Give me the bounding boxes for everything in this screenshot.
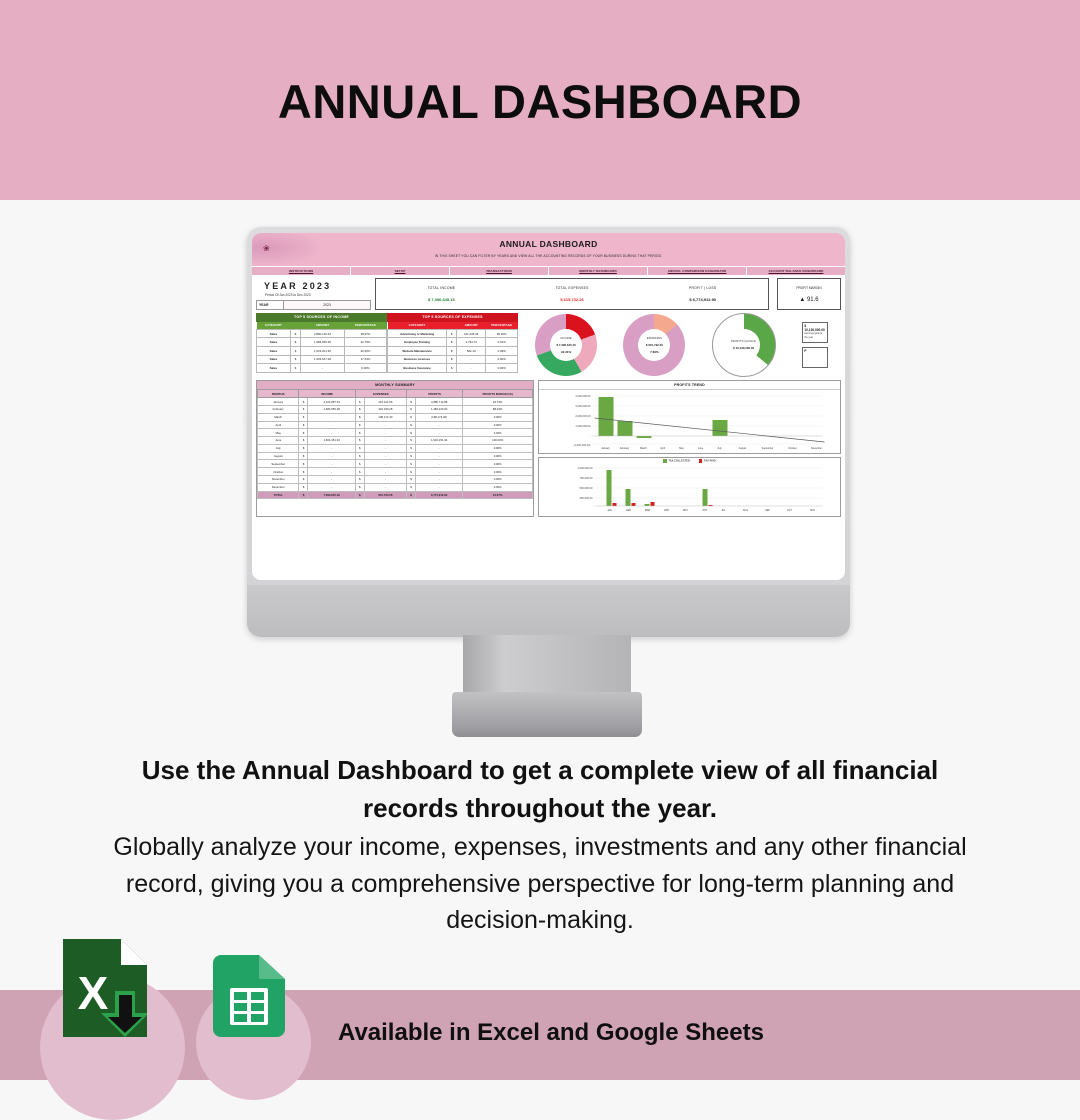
tax-chart: TAX COLLECTED TAX PAID	[538, 457, 841, 517]
profits-trend-chart: PROFITS TREND	[538, 380, 841, 454]
cell-cur: $	[355, 460, 364, 468]
goal-amount-cell: $ 10,130,000.00 Earnings goal for the ye…	[802, 322, 828, 343]
goal-secondary-cell: P	[802, 347, 828, 368]
cell-cur: $	[299, 475, 308, 483]
description-body: Globally analyze your income, expenses, …	[95, 829, 985, 938]
xtick-label: JAN	[607, 509, 612, 512]
profits-trend-plot: 4,000,000.00 3,000,000.00 2,000,000.00 1…	[539, 390, 840, 452]
monitor-base	[452, 692, 642, 737]
table-row: Business Licenses$-0.00%	[388, 355, 518, 364]
cell-cur: $	[406, 460, 415, 468]
cell-amount: 2,880,140.24	[300, 329, 344, 338]
cell-income: -	[308, 452, 355, 460]
cell-cur: $	[355, 468, 364, 476]
cell-profits: -	[415, 452, 462, 460]
tab-setup[interactable]: SETUP	[351, 267, 450, 275]
goal-amount: $ 10,130,000.00	[804, 324, 825, 332]
cell-category: Sales	[257, 346, 291, 355]
top-income-table: TOP 5 SOURCES OF INCOME CATEGORY AMOUNT …	[256, 313, 387, 377]
xtick-label: May	[679, 447, 684, 450]
cell-margin: 88.04%	[463, 405, 533, 413]
cell-cur: $	[299, 413, 308, 421]
top-expenses-title: TOP 5 SOURCES OF EXPENSES	[387, 313, 518, 322]
bar	[645, 504, 650, 506]
cell-cur: $	[299, 452, 308, 460]
table-row: Advertising or Marketing$611,435.4699.30…	[388, 329, 518, 338]
cell-profits: -	[415, 429, 462, 437]
cell-income: -	[308, 483, 355, 491]
donut-center: PROFITS (GOALS) $ 10,130,000.00	[728, 329, 760, 361]
cell-cur: $	[406, 468, 415, 476]
cell-cur: $	[406, 483, 415, 491]
cell-percentage: 0.00%	[344, 364, 386, 373]
goal-secondary-label: P	[804, 349, 825, 353]
cell-margin: 0.00%	[463, 483, 533, 491]
col-profit-margin: PROFITS MARGIN (%)	[463, 390, 533, 398]
donut-center: EXPENSES $ 615,732.26 7.69%	[638, 329, 670, 361]
cell-month: June	[258, 437, 299, 445]
tab-label: ACCOUNT BALANCE DASHBOARD	[769, 269, 824, 273]
cell-cur: $	[406, 491, 415, 499]
description-lead: Use the Annual Dashboard to get a comple…	[95, 752, 985, 827]
xtick-label: March	[640, 447, 647, 450]
table-row: February$1,684,656.28$301,436.28$1,483,2…	[258, 405, 533, 413]
cell-amount: 1,523,201.36	[300, 346, 344, 355]
cell-profits: 1,604,151.34	[415, 437, 462, 445]
ytick-label: 4,000,000.00	[575, 394, 591, 398]
kpi-row: YEAR 2023 Period Of Jan 2023 to Dec 2023…	[256, 278, 841, 310]
cell-income: -	[308, 460, 355, 468]
cell-month: April	[258, 421, 299, 429]
xtick-label: APR	[664, 509, 669, 512]
monthly-summary-table: MONTHLY SUMMARY MONTHS INCOME EXPENSES P…	[256, 380, 534, 517]
xtick-label: MAY	[683, 509, 688, 512]
cell-margin: 0.00%	[463, 452, 533, 460]
cell-month: November	[258, 475, 299, 483]
donut-value: $ 615,732.26	[646, 343, 663, 347]
monitor-screen-body: ❀ ANNUAL DASHBOARD IN THIS SHEET YOU CAN…	[247, 227, 850, 637]
ytick-label: 1,000,000.00	[575, 424, 591, 428]
cell-percentage: 20.60%	[344, 346, 386, 355]
kpi-value: ▲ 91.6	[799, 297, 818, 303]
cell-month: July	[258, 444, 299, 452]
tab-instructions[interactable]: INSTRUCTIONS	[252, 267, 351, 275]
cell-expenses: -	[364, 460, 406, 468]
cell-income: -	[308, 475, 355, 483]
page-title: ANNUAL DASHBOARD	[0, 74, 1080, 129]
description-block: Use the Annual Dashboard to get a comple…	[95, 752, 985, 938]
cell-expenses: -	[364, 437, 406, 445]
bar	[618, 421, 633, 436]
donut-chart-group: INCOME $ 7,390,645.16 92.31% EXPENSES $ …	[518, 313, 841, 377]
xtick-label: OCT	[787, 509, 793, 512]
cell-profits: (198,174.30)	[415, 413, 462, 421]
cell-cur: $	[406, 413, 415, 421]
cell-percentage: 17.64%	[344, 355, 386, 364]
year-period: Period Of Jan 2023 to Dec 2023	[256, 291, 371, 300]
table-row: October$-$-$-0.00%	[258, 468, 533, 476]
cell-currency: $	[290, 355, 300, 364]
tab-account-balance-dashboard[interactable]: ACCOUNT BALANCE DASHBOARD	[747, 267, 845, 275]
bar	[626, 489, 631, 506]
table-row: Sales$1,523,201.3620.60%	[257, 346, 387, 355]
cell-cur: $	[299, 437, 308, 445]
google-sheets-icon	[213, 955, 285, 1037]
cell-expenses: -	[364, 483, 406, 491]
goal-cells: $ 10,130,000.00 Earnings goal for the ye…	[802, 322, 828, 368]
cell-expenses: -	[364, 444, 406, 452]
cell-category: Business Licenses	[388, 355, 447, 364]
kpi-profit-margin: PROFIT MARGIN ▲ 91.6	[777, 278, 841, 310]
bar	[651, 502, 655, 506]
table-row: May$-$-$-0.00%	[258, 429, 533, 437]
cell-amount: 611,435.46	[457, 329, 486, 338]
xtick-label: August	[739, 447, 747, 450]
cell-margin: 0.00%	[463, 468, 533, 476]
tab-annual-comparison-dashboard[interactable]: ANNUAL COMPARISON DASHBOARD	[648, 267, 747, 275]
xtick-label: NOV	[810, 509, 816, 512]
cell-currency: $	[290, 346, 300, 355]
bottom-row: MONTHLY SUMMARY MONTHS INCOME EXPENSES P…	[256, 380, 841, 517]
col-percentage: PERCENTAGE	[486, 322, 518, 330]
cell-currency: $	[290, 364, 300, 373]
cell-month: February	[258, 405, 299, 413]
cell-margin: 0.00%	[463, 460, 533, 468]
table-header-row: CATEGORY AMOUNT PERCENTAGE	[388, 322, 518, 330]
cell-percentage: 99.30%	[486, 329, 518, 338]
cell-category: Sales	[257, 329, 291, 338]
cell-amount: 1,684,656.28	[300, 338, 344, 347]
donut-label: PROFITS (GOALS)	[731, 340, 756, 343]
tab-transactions[interactable]: TRANSACTIONS	[450, 267, 549, 275]
imac-monitor-mockup: ❀ ANNUAL DASHBOARD IN THIS SHEET YOU CAN…	[247, 227, 850, 735]
cell-income: 4,101,807.54	[308, 398, 355, 406]
sheet-nav-tabs[interactable]: INSTRUCTIONS SETUP TRANSACTIONS MONTHLY …	[252, 266, 845, 275]
kpi-value: $ 615,732.26	[560, 297, 583, 302]
col-category: CATEGORY	[388, 322, 447, 330]
footer-text: Available in Excel and Google Sheets	[338, 1019, 764, 1047]
monitor-neck	[463, 635, 631, 695]
table-row: April$-$-$-0.00%	[258, 421, 533, 429]
tab-label: MONTHLY DASHBOARD	[579, 269, 617, 273]
bar	[599, 397, 614, 436]
cell-cur: $	[355, 413, 364, 421]
cell-expenses: 301,436.28	[364, 405, 406, 413]
bar	[637, 436, 652, 438]
top-income-title: TOP 5 SOURCES OF INCOME	[256, 313, 387, 322]
cell-percentage: 0.00%	[486, 355, 518, 364]
cell-currency: $	[447, 364, 457, 373]
cell-income: -	[308, 429, 355, 437]
xtick-label: February	[620, 447, 630, 450]
ytick-label: 1,000,000.00	[577, 466, 593, 470]
cell-cur: $	[299, 468, 308, 476]
cell-currency: $	[290, 329, 300, 338]
table-row: November$-$-$-0.00%	[258, 475, 533, 483]
cell-cur: $	[406, 452, 415, 460]
cell-margin: 0.00%	[463, 429, 533, 437]
year-select[interactable]: YEAR 2023	[256, 300, 371, 310]
cell-cur: $	[299, 429, 308, 437]
donut-percent: 7.69%	[650, 350, 659, 354]
col-amount: AMOUNT	[300, 322, 344, 330]
cell-margin: 0.00%	[463, 444, 533, 452]
donut-profit-goals-chart: PROFITS (GOALS) $ 10,130,000.00	[712, 313, 776, 377]
cell-cur: $	[406, 398, 415, 406]
cell-expenses: -	[364, 452, 406, 460]
col-income: INCOME	[299, 390, 355, 398]
cell-percentage: 22.79%	[344, 338, 386, 347]
tab-label: ANNUAL COMPARISON DASHBOARD	[668, 269, 727, 273]
cell-month: March	[258, 413, 299, 421]
ytick-label: 3,000,000.00	[575, 404, 591, 408]
kpi-label: PROFIT | LOSS	[689, 286, 716, 290]
table-total-row: TOTAL$7,390,645.16$615,732.26$6,774,912.…	[258, 491, 533, 499]
top-banner: ANNUAL DASHBOARD	[0, 0, 1080, 200]
year-select-value[interactable]: 2023	[284, 301, 370, 309]
col-category: CATEGORY	[257, 322, 291, 330]
monthly-summary-title: MONTHLY SUMMARY	[257, 381, 533, 389]
col-expenses: EXPENSES	[355, 390, 406, 398]
cell-currency: $	[447, 338, 457, 347]
cell-cur: $	[299, 421, 308, 429]
cell-percentage: 0.09%	[486, 346, 518, 355]
cell-cur: $	[299, 398, 308, 406]
table-row: December$-$-$-0.00%	[258, 483, 533, 491]
cell-margin: 100.00%	[463, 437, 533, 445]
table-row: Employee Training$3,794.700.61%	[388, 338, 518, 347]
col-currency	[290, 322, 300, 330]
cell-cur: $	[406, 429, 415, 437]
xtick-label: JUN	[702, 509, 707, 512]
cell-income: -	[308, 421, 355, 429]
spreadsheet-annual-dashboard: ❀ ANNUAL DASHBOARD IN THIS SHEET YOU CAN…	[252, 233, 845, 580]
cell-income: 7,390,645.16	[308, 491, 355, 499]
xtick-label: FEB	[626, 509, 631, 512]
cell-income: 1,684,656.28	[308, 405, 355, 413]
cell-profits: -	[415, 468, 462, 476]
monitor-chin	[247, 585, 850, 637]
kpi-value: $ 7,390,645.16	[428, 297, 455, 302]
cell-cur: $	[299, 460, 308, 468]
table-row: June$1,604,151.34$-$1,604,151.34100.00%	[258, 437, 533, 445]
cell-cur: $	[406, 444, 415, 452]
cell-month: May	[258, 429, 299, 437]
cell-amount: 502.10	[457, 346, 486, 355]
ytick-label: -	[592, 505, 593, 508]
kpi-profit-loss: PROFIT | LOSS $ 6,774,912.90	[637, 279, 768, 309]
donut-center: INCOME $ 7,390,645.16 92.31%	[550, 329, 582, 361]
chart-title: PROFITS TREND	[539, 381, 840, 390]
xtick-label: July	[717, 447, 722, 450]
bar	[632, 503, 636, 506]
col-profits: PROFITS	[406, 390, 462, 398]
cell-month: December	[258, 483, 299, 491]
table-row: Sales$1,684,656.2822.79%	[257, 338, 387, 347]
cell-month: October	[258, 468, 299, 476]
table-row: January$4,101,807.54$216,121.66$3,885,71…	[258, 398, 533, 406]
cell-expenses: -	[364, 475, 406, 483]
donut-value: $ 7,390,645.16	[556, 343, 575, 347]
cell-expenses: -	[364, 468, 406, 476]
xtick-label: October	[788, 447, 797, 450]
goal-caption: Earnings goal for the year	[804, 332, 825, 339]
tax-chart-plot: 1,000,000.00 750,000.00 500,000.00 250,0…	[539, 463, 840, 515]
cell-expenses: 198,171.30	[364, 413, 406, 421]
cell-income: -	[308, 468, 355, 476]
cell-profits: -	[415, 483, 462, 491]
tab-label: TRANSACTIONS	[486, 269, 512, 273]
kpi-total-expenses: TOTAL EXPENSES $ 615,732.26	[507, 279, 638, 309]
col-currency	[447, 322, 457, 330]
cell-income: -	[308, 413, 355, 421]
table-row: Sales$2,880,140.2438.97%	[257, 329, 387, 338]
donut-income-chart: INCOME $ 7,390,645.16 92.31%	[535, 314, 597, 376]
table-header-row: CATEGORY AMOUNT PERCENTAGE	[257, 322, 387, 330]
charts-column: PROFITS TREND	[538, 380, 841, 517]
table-row: Sales$1,303,647.2817.64%	[257, 355, 387, 364]
cell-cur: $	[406, 421, 415, 429]
cell-cur: $	[355, 437, 364, 445]
xtick-label: April	[660, 447, 665, 450]
tab-label: INSTRUCTIONS	[289, 269, 313, 273]
xtick-label: January	[601, 447, 610, 450]
table-header-row: MONTHS INCOME EXPENSES PROFITS PROFITS M…	[258, 390, 533, 398]
cell-currency: $	[447, 329, 457, 338]
donut-percent: 92.31%	[561, 350, 571, 354]
cell-month: January	[258, 398, 299, 406]
xtick-label: JUL	[721, 509, 726, 512]
ytick-label: 750,000.00	[580, 476, 594, 480]
xtick-label: SEP	[765, 509, 770, 512]
kpi-value: $ 6,774,912.90	[689, 297, 716, 302]
monitor-display: ❀ ANNUAL DASHBOARD IN THIS SHEET YOU CAN…	[252, 233, 845, 580]
cell-profits: -	[415, 421, 462, 429]
sheet-title: ANNUAL DASHBOARD	[252, 239, 845, 249]
table-row: Sales$-0.00%	[257, 364, 387, 373]
cell-amount: -	[457, 364, 486, 373]
cell-currency: $	[290, 338, 300, 347]
cell-category: Sales	[257, 364, 291, 373]
xtick-label: September	[762, 447, 774, 450]
year-select-label: YEAR	[257, 301, 284, 309]
col-percentage: PERCENTAGE	[344, 322, 386, 330]
cell-margin: 0.00%	[463, 413, 533, 421]
cell-profits: -	[415, 460, 462, 468]
table-row: Business Insurance$-0.00%	[388, 364, 518, 373]
cell-cur: $	[355, 444, 364, 452]
top-sources-row: TOP 5 SOURCES OF INCOME CATEGORY AMOUNT …	[256, 313, 841, 377]
kpi-card-group: TOTAL INCOME $ 7,390,645.16 TOTAL EXPENS…	[375, 278, 769, 310]
table-row: September$-$-$-0.00%	[258, 460, 533, 468]
cell-cur: $	[299, 444, 308, 452]
cell-cur: $	[406, 405, 415, 413]
cell-income: 1,604,151.34	[308, 437, 355, 445]
kpi-total-income: TOTAL INCOME $ 7,390,645.16	[376, 279, 507, 309]
cell-month: September	[258, 460, 299, 468]
top-expenses-table: TOP 5 SOURCES OF EXPENSES CATEGORY AMOUN…	[387, 313, 518, 377]
table-row: August$-$-$-0.00%	[258, 452, 533, 460]
donut-label: INCOME	[560, 337, 571, 340]
cell-cur: $	[406, 475, 415, 483]
bar	[613, 503, 617, 506]
cell-amount: 3,794.70	[457, 338, 486, 347]
ytick-label: 2,000,000.00	[575, 414, 591, 418]
cell-cur: $	[355, 429, 364, 437]
cell-cur: $	[299, 483, 308, 491]
donut-label: EXPENSES	[647, 337, 662, 340]
table-row: March$-$198,171.30$(198,174.30)0.00%	[258, 413, 533, 421]
bar	[607, 470, 612, 506]
cell-category: Advertising or Marketing	[388, 329, 447, 338]
cell-percentage: 0.61%	[486, 338, 518, 347]
xtick-label: November	[811, 447, 822, 450]
cell-cur: $	[355, 398, 364, 406]
cell-profits: -	[415, 444, 462, 452]
cell-margin: 0.00%	[463, 475, 533, 483]
sheet-header: ❀ ANNUAL DASHBOARD IN THIS SHEET YOU CAN…	[252, 233, 845, 266]
cell-margin: 94.73%	[463, 398, 533, 406]
cell-category: Sales	[257, 338, 291, 347]
cell-expenses: -	[364, 421, 406, 429]
col-months: MONTHS	[258, 390, 299, 398]
xtick-label: MAR	[645, 509, 651, 512]
cell-currency: $	[447, 355, 457, 364]
kpi-label: TOTAL INCOME	[427, 286, 455, 290]
xtick-label: AUG	[743, 509, 748, 512]
cell-expenses: 615,732.26	[364, 491, 406, 499]
cell-category: Business Insurance	[388, 364, 447, 373]
cell-profits: -	[415, 475, 462, 483]
tab-monthly-dashboard[interactable]: MONTHLY DASHBOARD	[549, 267, 648, 275]
year-filter-panel: YEAR 2023 Period Of Jan 2023 to Dec 2023…	[256, 278, 371, 310]
ytick-label: (1,000,000.00)	[574, 443, 591, 447]
cell-month: TOTAL	[258, 491, 299, 499]
cell-cur: $	[299, 405, 308, 413]
table-row: July$-$-$-0.00%	[258, 444, 533, 452]
cell-cur: $	[355, 475, 364, 483]
cell-profits: 3,885,713.88	[415, 398, 462, 406]
xtick-label: June	[698, 447, 704, 450]
tab-label: SETUP	[395, 269, 406, 273]
svg-text:X: X	[78, 967, 109, 1019]
donut-expenses-chart: EXPENSES $ 615,732.26 7.69%	[623, 314, 685, 376]
cell-cur: $	[355, 491, 364, 499]
donut-value: $ 10,130,000.00	[733, 346, 754, 350]
cell-cur: $	[355, 421, 364, 429]
cell-amount: -	[457, 355, 486, 364]
cell-cur: $	[355, 483, 364, 491]
kpi-label: PROFIT MARGIN	[796, 286, 821, 290]
kpi-label: TOTAL EXPENSES	[555, 286, 588, 290]
sheet-subtitle: IN THIS SHEET YOU CAN FILTER BY YEARS AN…	[252, 254, 845, 258]
cell-percentage: 0.00%	[486, 364, 518, 373]
cell-category: Website Maintenance	[388, 346, 447, 355]
ytick-label: -	[590, 435, 591, 438]
cell-cur: $	[406, 437, 415, 445]
cell-profits: 1,483,220.00	[415, 405, 462, 413]
ytick-label: 250,000.00	[580, 496, 594, 500]
cell-margin: 0.00%	[463, 421, 533, 429]
cell-currency: $	[447, 346, 457, 355]
bar-series	[599, 397, 728, 438]
cell-expenses: 216,121.66	[364, 398, 406, 406]
cell-month: August	[258, 452, 299, 460]
cell-profits: 6,774,912.90	[415, 491, 462, 499]
cell-amount: -	[300, 364, 344, 373]
cell-expenses: -	[364, 429, 406, 437]
table-row: Website Maintenance$502.100.09%	[388, 346, 518, 355]
